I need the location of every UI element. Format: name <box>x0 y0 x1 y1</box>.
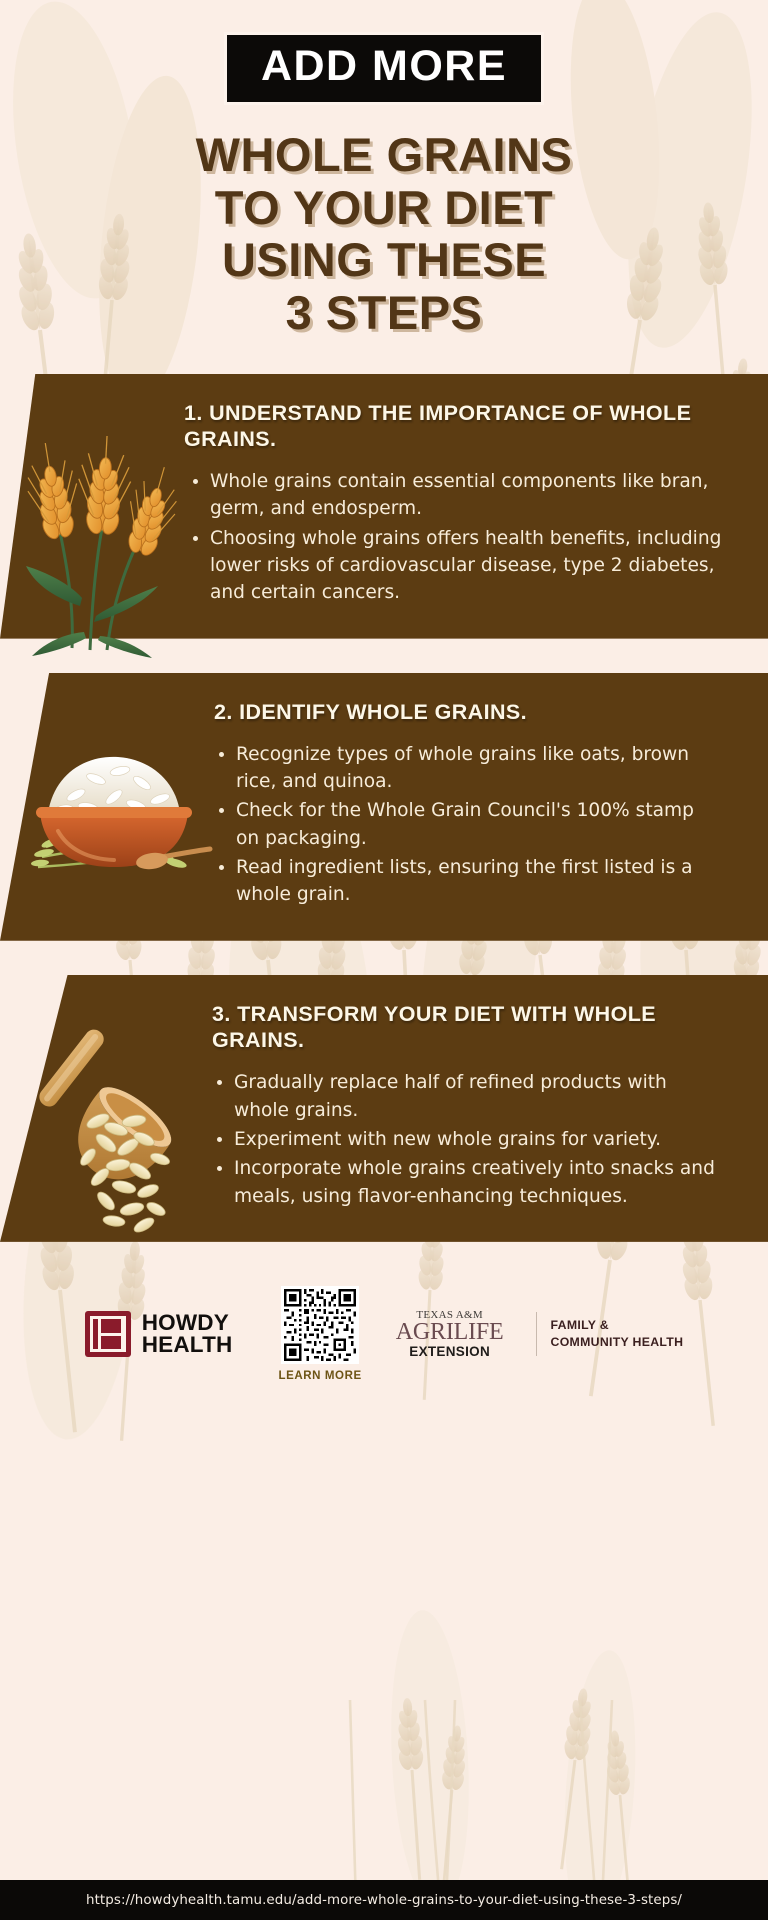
list-item: Incorporate whole grains creatively into… <box>212 1155 722 1210</box>
list-item: Choosing whole grains offers health bene… <box>188 525 722 607</box>
step-title-1: 1. UNDERSTAND THE IMPORTANCE OF WHOLE GR… <box>184 400 722 452</box>
url-bar: https://howdyhealth.tamu.edu/add-more-wh… <box>0 1880 768 1920</box>
howdy-health-wordmark: HOWDY HEALTH <box>142 1312 233 1357</box>
learn-more-label[interactable]: LEARN MORE <box>278 1370 361 1382</box>
list-item: Experiment with new whole grains for var… <box>212 1126 722 1153</box>
list-item: Read ingredient lists, ensuring the firs… <box>214 854 722 909</box>
list-item: Gradually replace half of refined produc… <box>212 1069 722 1124</box>
title-line-4: 3 STEPS <box>40 287 728 340</box>
title-line-2: TO YOUR DIET <box>40 182 728 235</box>
title-line-3: USING THESE <box>40 234 728 287</box>
howdy-line-1: HOWDY <box>142 1312 233 1335</box>
fch-line-2: COMMUNITY HEALTH <box>551 1334 684 1351</box>
howdy-line-2: HEALTH <box>142 1334 233 1357</box>
step-panel-2: 2. IDENTIFY WHOLE GRAINS. Recognize type… <box>0 673 768 941</box>
poster-footer: HOWDY HEALTH <box>0 1242 768 1427</box>
source-url[interactable]: https://howdyhealth.tamu.edu/add-more-wh… <box>86 1893 682 1908</box>
add-more-label: ADD MORE <box>261 45 507 88</box>
poster-header: ADD MORE WHOLE GRAINS TO YOUR DIET USING… <box>0 0 768 340</box>
list-item: Check for the Whole Grain Council's 100%… <box>214 797 722 852</box>
step-card-1: 1. UNDERSTAND THE IMPORTANCE OF WHOLE GR… <box>0 374 768 639</box>
add-more-badge: ADD MORE <box>224 32 544 105</box>
infographic-poster: ADD MORE WHOLE GRAINS TO YOUR DIET USING… <box>0 0 768 1920</box>
steps-container: 1. UNDERSTAND THE IMPORTANCE OF WHOLE GR… <box>0 374 768 1242</box>
agrilife-wordmark: AGRILIFE <box>396 1320 504 1344</box>
step-bullets-2: Recognize types of whole grains like oat… <box>214 741 722 909</box>
qr-code-icon[interactable] <box>281 1286 359 1364</box>
list-item: Whole grains contain essential component… <box>188 468 722 523</box>
step-panel-3: 3. TRANSFORM YOUR DIET WITH WHOLE GRAINS… <box>0 975 768 1242</box>
step-bullets-3: Gradually replace half of refined produc… <box>212 1069 722 1210</box>
family-community-health: FAMILY & COMMUNITY HEALTH <box>551 1317 684 1351</box>
footer-divider <box>536 1312 537 1356</box>
step-panel-1: 1. UNDERSTAND THE IMPORTANCE OF WHOLE GR… <box>0 374 768 639</box>
step-bullets-1: Whole grains contain essential component… <box>188 468 722 607</box>
agrilife-logo: TEXAS A&M AGRILIFE EXTENSION <box>396 1310 504 1359</box>
page-title: WHOLE GRAINS TO YOUR DIET USING THESE 3 … <box>0 129 768 340</box>
step-card-2: 2. IDENTIFY WHOLE GRAINS. Recognize type… <box>0 673 768 941</box>
agrilife-extension: EXTENSION <box>396 1345 504 1359</box>
howdy-health-logo: HOWDY HEALTH <box>85 1311 233 1357</box>
howdy-health-mark-icon <box>85 1311 131 1357</box>
fch-line-1: FAMILY & <box>551 1317 684 1334</box>
step-title-3: 3. TRANSFORM YOUR DIET WITH WHOLE GRAINS… <box>212 1001 722 1053</box>
title-line-1: WHOLE GRAINS <box>40 129 728 182</box>
step-card-3: 3. TRANSFORM YOUR DIET WITH WHOLE GRAINS… <box>0 975 768 1242</box>
list-item: Recognize types of whole grains like oat… <box>214 741 722 796</box>
qr-block[interactable]: LEARN MORE <box>278 1286 361 1382</box>
step-title-2: 2. IDENTIFY WHOLE GRAINS. <box>214 699 722 725</box>
